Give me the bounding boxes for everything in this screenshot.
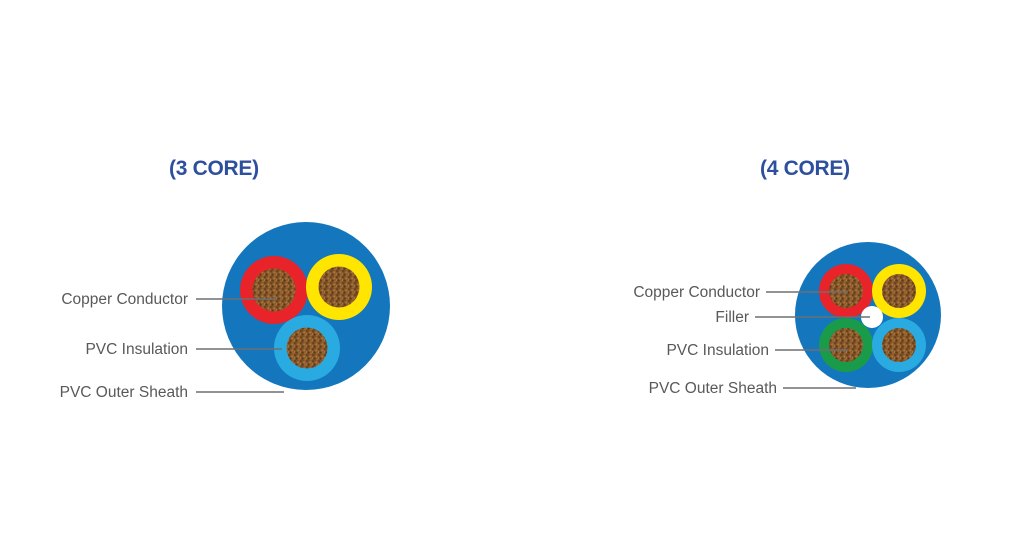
- four-core-label-copper-conductor: Copper Conductor: [633, 284, 760, 301]
- four-core-lightblue-copper-conductor: [882, 328, 916, 362]
- diagram-canvas: (3 CORE) Copper Conduc: [0, 0, 1024, 544]
- cable-cross-section-diagram: (3 CORE) Copper Conduc: [0, 0, 1024, 544]
- three-core-core-red: [240, 256, 308, 324]
- four-core-label-pvc-insulation: PVC Insulation: [666, 342, 769, 359]
- four-core-title: (4 CORE): [760, 157, 850, 180]
- four-core-label-pvc-outer-sheath: PVC Outer Sheath: [649, 380, 777, 397]
- three-core-lightblue-copper-conductor: [287, 328, 328, 369]
- four-core-label-filler: Filler: [715, 309, 749, 326]
- three-core-title: (3 CORE): [169, 157, 259, 180]
- three-core-core-yellow: [306, 254, 372, 320]
- three-core-label-copper-conductor: Copper Conductor: [61, 291, 188, 308]
- three-core-label-pvc-insulation: PVC Insulation: [85, 341, 188, 358]
- four-core-yellow-copper-conductor: [882, 274, 916, 308]
- three-core-label-pvc-outer-sheath: PVC Outer Sheath: [60, 384, 188, 401]
- four-core-core-lightblue: [872, 318, 926, 372]
- four-core-red-copper-conductor: [829, 274, 863, 308]
- three-core-yellow-copper-conductor: [319, 267, 360, 308]
- three-core-core-lightblue: [274, 315, 340, 381]
- three-core-red-copper-conductor: [253, 269, 296, 312]
- four-core-core-green: [819, 318, 873, 372]
- four-core-green-copper-conductor: [829, 328, 863, 362]
